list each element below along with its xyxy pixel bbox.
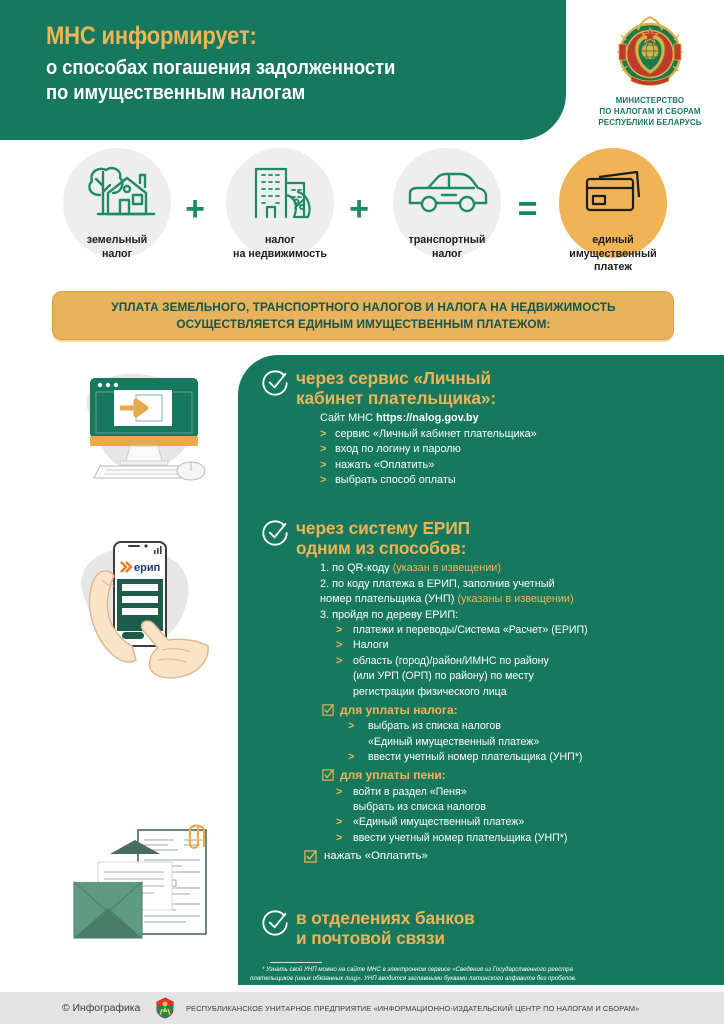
footer: © Инфографика РЕСПУБЛИКАНСКОЕ УНИТАРНОЕ …	[0, 992, 724, 1024]
erip-logo-text: ерип	[134, 562, 160, 574]
section2-heading: через систему ЕРИП одним из способов:	[296, 518, 724, 558]
emblem-caption-line3: РЕСПУБЛИКИ БЕЛАРУСЬ	[589, 117, 711, 128]
tree-item: Налоги	[336, 638, 724, 653]
equation-label-line1: налог	[210, 234, 351, 248]
infographic-page: МНС информирует: о способах погашения за…	[0, 0, 724, 1024]
footer-copyright: © Инфографика	[62, 1003, 140, 1014]
tax-equation-row: земельный налог +	[0, 146, 724, 276]
equation-label-line3: платеж	[543, 261, 684, 275]
gold-banner-line2: ОСУЩЕСТВЛЯЕТСЯ ЕДИНЫМ ИМУЩЕСТВЕННЫМ ПЛАТ…	[111, 316, 615, 333]
rup-logo-icon	[154, 997, 176, 1019]
gold-banner-text: УПЛАТА ЗЕМЕЛЬНОГО, ТРАНСПОРТНОГО НАЛОГОВ…	[111, 299, 615, 332]
equation-item-land-tax: земельный налог	[42, 146, 192, 261]
belarus-coat-of-arms-icon	[613, 14, 687, 90]
section1-heading-line2: кабинет плательщика»:	[296, 388, 724, 408]
car-icon	[372, 146, 522, 230]
section3-heading-line2: и почтовой связи	[296, 928, 724, 948]
equation-label-line1: земельный	[47, 234, 188, 248]
list-item: выбрать способ оплаты	[320, 473, 724, 488]
list-item: войти в раздел «Пеня»	[336, 785, 724, 800]
equation-item-transport-tax: транспортный налог	[372, 146, 522, 261]
equation-label-land-tax: земельный налог	[47, 234, 188, 261]
numbered-item-1-note: (указан в извещении)	[393, 562, 501, 574]
section2-body: 1. по QR-коду (указан в извещении) 2. по…	[320, 561, 724, 865]
penalty-payment-label-row: для уплаты пени:	[322, 767, 724, 784]
equation-item-single-payment: единый имущественный платеж	[538, 146, 688, 275]
house-tree-icon	[42, 146, 192, 230]
equation-label-transport-tax: транспортный налог	[377, 234, 518, 261]
site-prefix: Сайт МНС	[320, 412, 376, 424]
equation-label-property-tax: налог на недвижимость	[210, 234, 351, 261]
numbered-item-2-note: (указаны в извещении)	[457, 593, 573, 605]
section2-heading-line2: одним из способов:	[296, 538, 724, 558]
list-item: «Единый имущественный платеж»	[336, 815, 724, 830]
numbered-item-2: 2. по коду платежа в ЕРИП, заполнив учет…	[320, 577, 724, 592]
equation-label-line2: имущественный	[543, 248, 684, 262]
footer-organization: РЕСПУБЛИКАНСКОЕ УНИТАРНОЕ ПРЕДПРИЯТИЕ «И…	[186, 1004, 639, 1013]
section-personal-cabinet: через сервис «Личный кабинет плательщика…	[238, 368, 724, 489]
section-banks-post: в отделениях банков и почтовой связи	[238, 908, 724, 948]
list-item-continuation: выбрать из списка налогов	[336, 800, 724, 815]
tree-item: платежи и переводы/Система «Расчет» (ЕРИ…	[336, 623, 724, 638]
circle-check-icon	[262, 370, 288, 396]
section2-heading-line1: через систему ЕРИП	[296, 518, 724, 538]
equation-label-line2: на недвижимость	[210, 248, 351, 262]
section3-heading: в отделениях банков и почтовой связи	[296, 908, 724, 948]
numbered-item-1: 1. по QR-коду (указан в извещении)	[320, 561, 724, 576]
circle-check-icon	[262, 910, 288, 936]
equation-label-line1: единый	[543, 234, 684, 248]
ministry-emblem-block: МИНИСТЕРСТВО ПО НАЛОГАМ И СБОРАМ РЕСПУБЛ…	[586, 14, 714, 128]
pay-action-label: нажать «Оплатить»	[324, 850, 428, 862]
equation-label-line2: налог	[377, 248, 518, 262]
footnote-line2: плательщиков (иных обязанных лиц)». УНП …	[250, 975, 576, 982]
site-url[interactable]: https://nalog.gov.by	[376, 412, 479, 424]
checkbox-check-icon	[322, 769, 334, 781]
gold-banner-line1: УПЛАТА ЗЕМЕЛЬНОГО, ТРАНСПОРТНОГО НАЛОГОВ…	[111, 299, 615, 316]
list-item: ввести учетный номер плательщика (УНП*)	[336, 831, 724, 846]
checkbox-check-icon	[304, 850, 317, 863]
section1-body: Сайт МНС https://nalog.gov.by сервис «Ли…	[320, 411, 724, 488]
numbered-item-2-line2: номер плательщика (УНП) (указаны в извещ…	[320, 592, 724, 607]
envelope-document-icon	[62, 818, 222, 953]
numbered-item-1-text: 1. по QR-коду	[320, 562, 393, 574]
buildings-percent-icon	[205, 146, 355, 230]
page-title-gold: МНС информирует:	[46, 22, 486, 50]
page-subtitle: о способах погашения задолженности по им…	[46, 55, 496, 105]
hands-phone-erip-icon: ерип	[58, 528, 228, 693]
list-item: сервис «Личный кабинет плательщика»	[320, 427, 724, 442]
numbered-item-3: 3. пройдя по дереву ЕРИП:	[320, 608, 724, 623]
circle-check-icon	[262, 520, 288, 546]
emblem-caption: МИНИСТЕРСТВО ПО НАЛОГАМ И СБОРАМ РЕСПУБЛ…	[589, 95, 711, 128]
penalty-payment-label: для уплаты пени:	[340, 768, 446, 782]
list-item: выбрать из списка налогов	[348, 719, 724, 734]
section3-heading-line1: в отделениях банков	[296, 908, 724, 928]
equation-label-single-payment: единый имущественный платеж	[543, 234, 684, 275]
header: МНС информирует: о способах погашения за…	[0, 0, 724, 140]
bank-cards-icon	[538, 146, 688, 230]
header-title-wrap: МНС информирует: о способах погашения за…	[46, 22, 546, 105]
site-line: Сайт МНС https://nalog.gov.by	[320, 411, 724, 426]
section1-heading: через сервис «Личный кабинет плательщика…	[296, 368, 724, 408]
numbered-item-2-text: номер плательщика (УНП)	[320, 593, 457, 605]
page-subtitle-line2: по имущественным налогам	[46, 80, 496, 105]
pay-action-row: нажать «Оплатить»	[304, 848, 724, 865]
section1-heading-line1: через сервис «Личный	[296, 368, 724, 388]
footnote: * Узнать свой УНП можно на сайте МНС в э…	[250, 966, 712, 983]
gold-banner: УПЛАТА ЗЕМЕЛЬНОГО, ТРАНСПОРТНОГО НАЛОГОВ…	[52, 291, 674, 340]
emblem-caption-line2: ПО НАЛОГАМ И СБОРАМ	[589, 106, 711, 117]
tax-payment-label-row: для уплаты налога:	[322, 702, 724, 719]
equation-label-line1: транспортный	[377, 234, 518, 248]
footnote-divider	[270, 962, 322, 963]
list-item: вход по логину и паролю	[320, 442, 724, 457]
emblem-caption-line1: МИНИСТЕРСТВО	[589, 95, 711, 106]
checkbox-check-icon	[322, 704, 334, 716]
tax-payment-label: для уплаты налога:	[340, 703, 458, 717]
list-item: нажать «Оплатить»	[320, 458, 724, 473]
tree-item-continuation: (или УРП (ОРП) по району) по месту	[336, 669, 724, 684]
footnote-line1: * Узнать свой УНП можно на сайте МНС в э…	[250, 966, 712, 975]
equation-item-property-tax: налог на недвижимость	[205, 146, 355, 261]
desktop-monitor-icon	[58, 366, 223, 501]
section-erip: через систему ЕРИП одним из способов: 1.…	[238, 518, 724, 865]
tree-item: область (город)/район/ИМНС по району	[336, 654, 724, 669]
list-item: ввести учетный номер плательщика (УНП*)	[348, 750, 724, 765]
equation-label-line2: налог	[47, 248, 188, 262]
list-item-continuation: «Единый имущественный платеж»	[348, 735, 724, 750]
page-subtitle-line1: о способах погашения задолженности	[46, 56, 395, 79]
tree-item-continuation: регистрации физического лица	[336, 685, 724, 700]
